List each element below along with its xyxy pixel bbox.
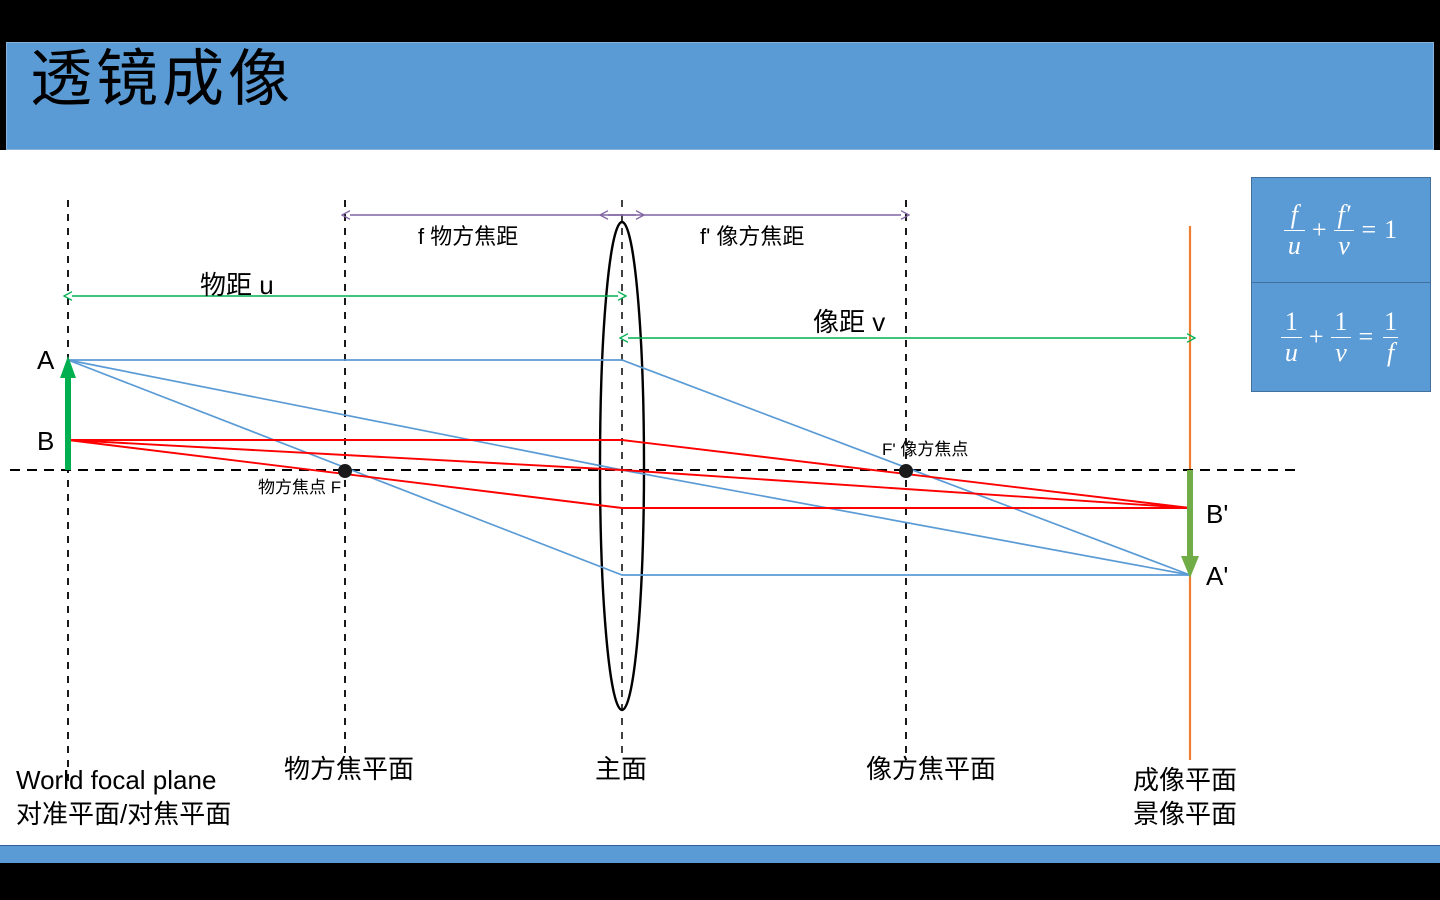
formula-box: f u + f′ v = 1 1 u + 1 (1251, 177, 1431, 392)
caption-world-focal-plane-line2: 对准平面/对焦平面 (16, 800, 231, 830)
frac-f-over-u: f u (1284, 201, 1305, 259)
equals-sign-1: = (1361, 215, 1376, 245)
label-image-distance: 像距 v (813, 308, 885, 338)
ray-red-chief (68, 440, 1190, 508)
ray-blue-through-f (68, 360, 1190, 575)
caption-imaging-plane-line2: 景像平面 (1133, 800, 1237, 830)
equals-sign-2: = (1359, 322, 1374, 352)
label-point-a-prime: A' (1206, 562, 1228, 592)
formula-lens-equation-1: f u + f′ v = 1 (1252, 178, 1430, 283)
formula-lens-equation-2: 1 u + 1 v = 1 f (1252, 283, 1430, 391)
ray-red-through-f (68, 440, 1190, 508)
plus-sign-2: + (1309, 322, 1324, 352)
image-focal-point-dot (899, 464, 913, 478)
label-point-a: A (37, 346, 54, 376)
slide-root: 透镜成像 (0, 0, 1440, 900)
object-focal-point-dot (338, 464, 352, 478)
caption-imaging-plane-line1: 成像平面 (1133, 766, 1237, 796)
frac-1-over-u: 1 u (1281, 308, 1302, 366)
label-object-focal-point: 物方焦点 F (258, 478, 341, 498)
label-image-focal-length: f' 像方焦距 (700, 224, 804, 249)
caption-image-focal-plane: 像方焦平面 (866, 755, 996, 785)
plus-sign-1: + (1312, 215, 1327, 245)
frac-1-over-v: 1 v (1331, 308, 1352, 366)
label-image-focal-point: F' 像方焦点 (882, 440, 968, 460)
ray-blue-chief (68, 360, 1190, 575)
label-object-focal-length: f 物方焦距 (418, 224, 518, 249)
label-object-distance: 物距 u (200, 271, 274, 301)
caption-principal-plane: 主面 (595, 755, 647, 785)
frac-fp-over-v: f′ v (1334, 201, 1355, 259)
label-point-b-prime: B' (1206, 500, 1228, 530)
caption-world-focal-plane-line1: World focal plane (16, 766, 216, 796)
ray-red-parallel (68, 440, 1190, 508)
frac-1-over-f: 1 f (1380, 308, 1401, 366)
formula-result-1: 1 (1384, 215, 1397, 245)
label-point-b: B (37, 427, 54, 457)
bottom-black-band (0, 863, 1440, 900)
ray-blue-parallel (68, 360, 1190, 575)
caption-object-focal-plane: 物方焦平面 (284, 755, 414, 785)
bottom-blue-strip (0, 845, 1440, 863)
